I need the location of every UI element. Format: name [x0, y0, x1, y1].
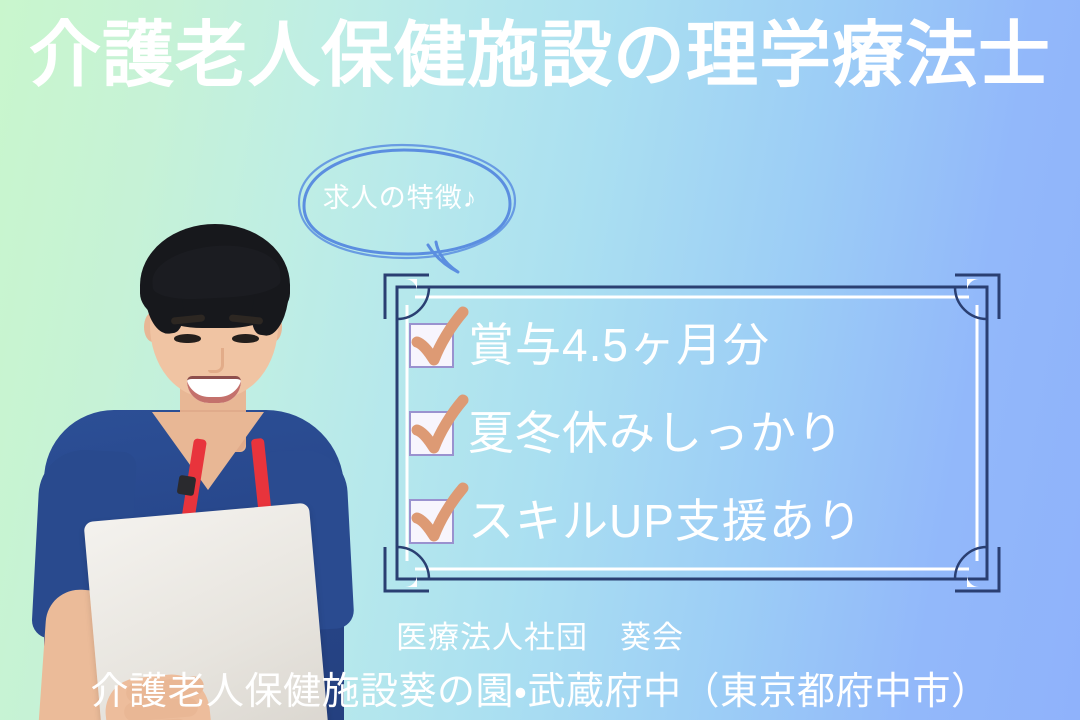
organization-name: 医療法人社団 葵会 — [0, 612, 1080, 657]
lanyard-clip — [177, 475, 197, 496]
facility-name: 介護老人保健施設葵の園・武蔵府中（東京都府中市） — [0, 660, 1080, 715]
checkbox-checked-icon[interactable] — [409, 323, 454, 368]
checkbox-checked-icon[interactable] — [409, 411, 454, 456]
feature-item: 夏冬休みしっかり — [409, 389, 1001, 477]
job-ad-poster: 介護老人保健施設の理学療法士 — [0, 0, 1080, 720]
feature-label: 夏冬休みしっかり — [468, 410, 844, 456]
check-mark-icon — [407, 394, 469, 460]
feature-label: 賞与4.5ヶ月分 — [468, 322, 770, 368]
checkbox-checked-icon[interactable] — [409, 499, 454, 544]
eye-left — [174, 334, 201, 343]
feature-label: スキルUP支援あり — [468, 498, 863, 544]
speech-bubble: 求人の特徴♪ — [286, 142, 536, 274]
eye-right — [232, 334, 259, 343]
feature-item: 賞与4.5ヶ月分 — [409, 301, 1001, 389]
speech-bubble-text: 求人の特徴♪ — [286, 176, 514, 215]
page-title: 介護老人保健施設の理学療法士 — [0, 20, 1080, 92]
feature-item: スキルUP支援あり — [409, 477, 1001, 565]
nose — [208, 348, 224, 373]
features-frame: 賞与4.5ヶ月分 夏冬休みしっかり スキルUP支援あり — [383, 273, 1001, 593]
feature-list: 賞与4.5ヶ月分 夏冬休みしっかり スキルUP支援あり — [383, 273, 1001, 593]
check-mark-icon — [407, 306, 469, 372]
check-mark-icon — [407, 482, 469, 548]
